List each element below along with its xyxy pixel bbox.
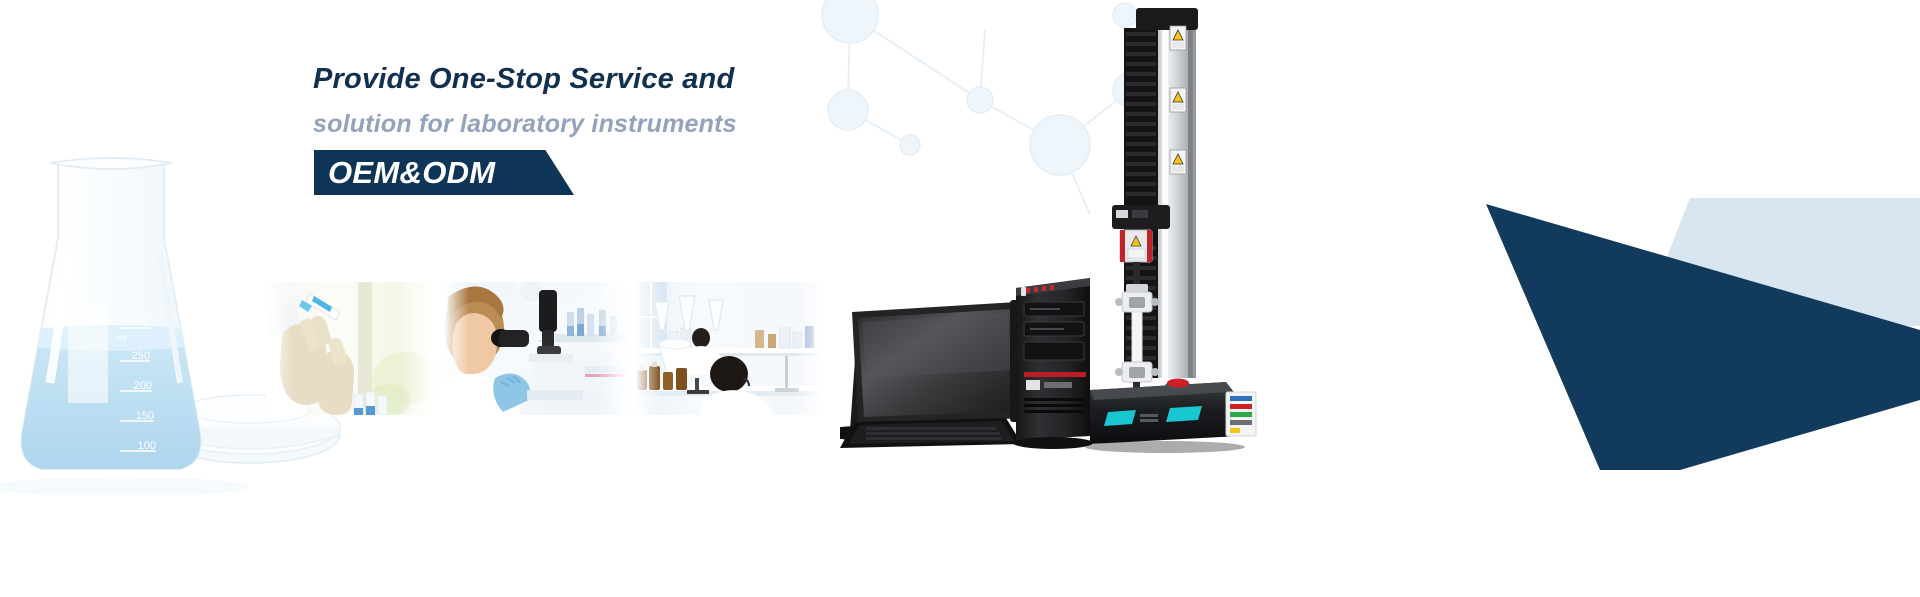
svg-text:250: 250 [132,350,150,362]
oem-odm-badge: OEM&ODM [314,150,574,195]
warning-label [1170,150,1186,174]
photo-fade-left [443,282,469,415]
arrow-light-shape [1640,198,1920,326]
photo-fade-right [791,282,825,415]
tensile-tester [1085,8,1256,453]
arrow-dark-shape [1486,204,1920,470]
svg-text:300: 300 [130,316,148,328]
svg-text:150: 150 [136,410,154,422]
warning-label [1170,88,1186,112]
photo-separator [436,282,443,415]
photo-separator [628,282,635,415]
photo-strip [266,282,825,415]
equipment-illustration [840,0,1420,470]
photo-pipetting [266,282,436,415]
photo-lab-team [635,282,825,415]
photo-fade-right [594,282,628,415]
svg-text:100: 100 [138,440,156,452]
keyboard [840,418,1022,448]
warning-label [1170,26,1186,50]
tower-pc [1013,278,1093,449]
erlenmeyer-flask: 300 250 200 150 100 ml [10,158,220,488]
badge-label: OEM&ODM [328,151,495,195]
hero-banner: 300 250 200 150 100 ml Provide One-Stop … [0,0,1920,597]
photo-fade-right [402,282,436,415]
svg-text:200: 200 [134,380,152,392]
photo-fade-left [635,282,661,415]
svg-text:ml: ml [116,333,127,344]
photo-microscope [443,282,628,415]
photo-fade-left [266,282,292,415]
